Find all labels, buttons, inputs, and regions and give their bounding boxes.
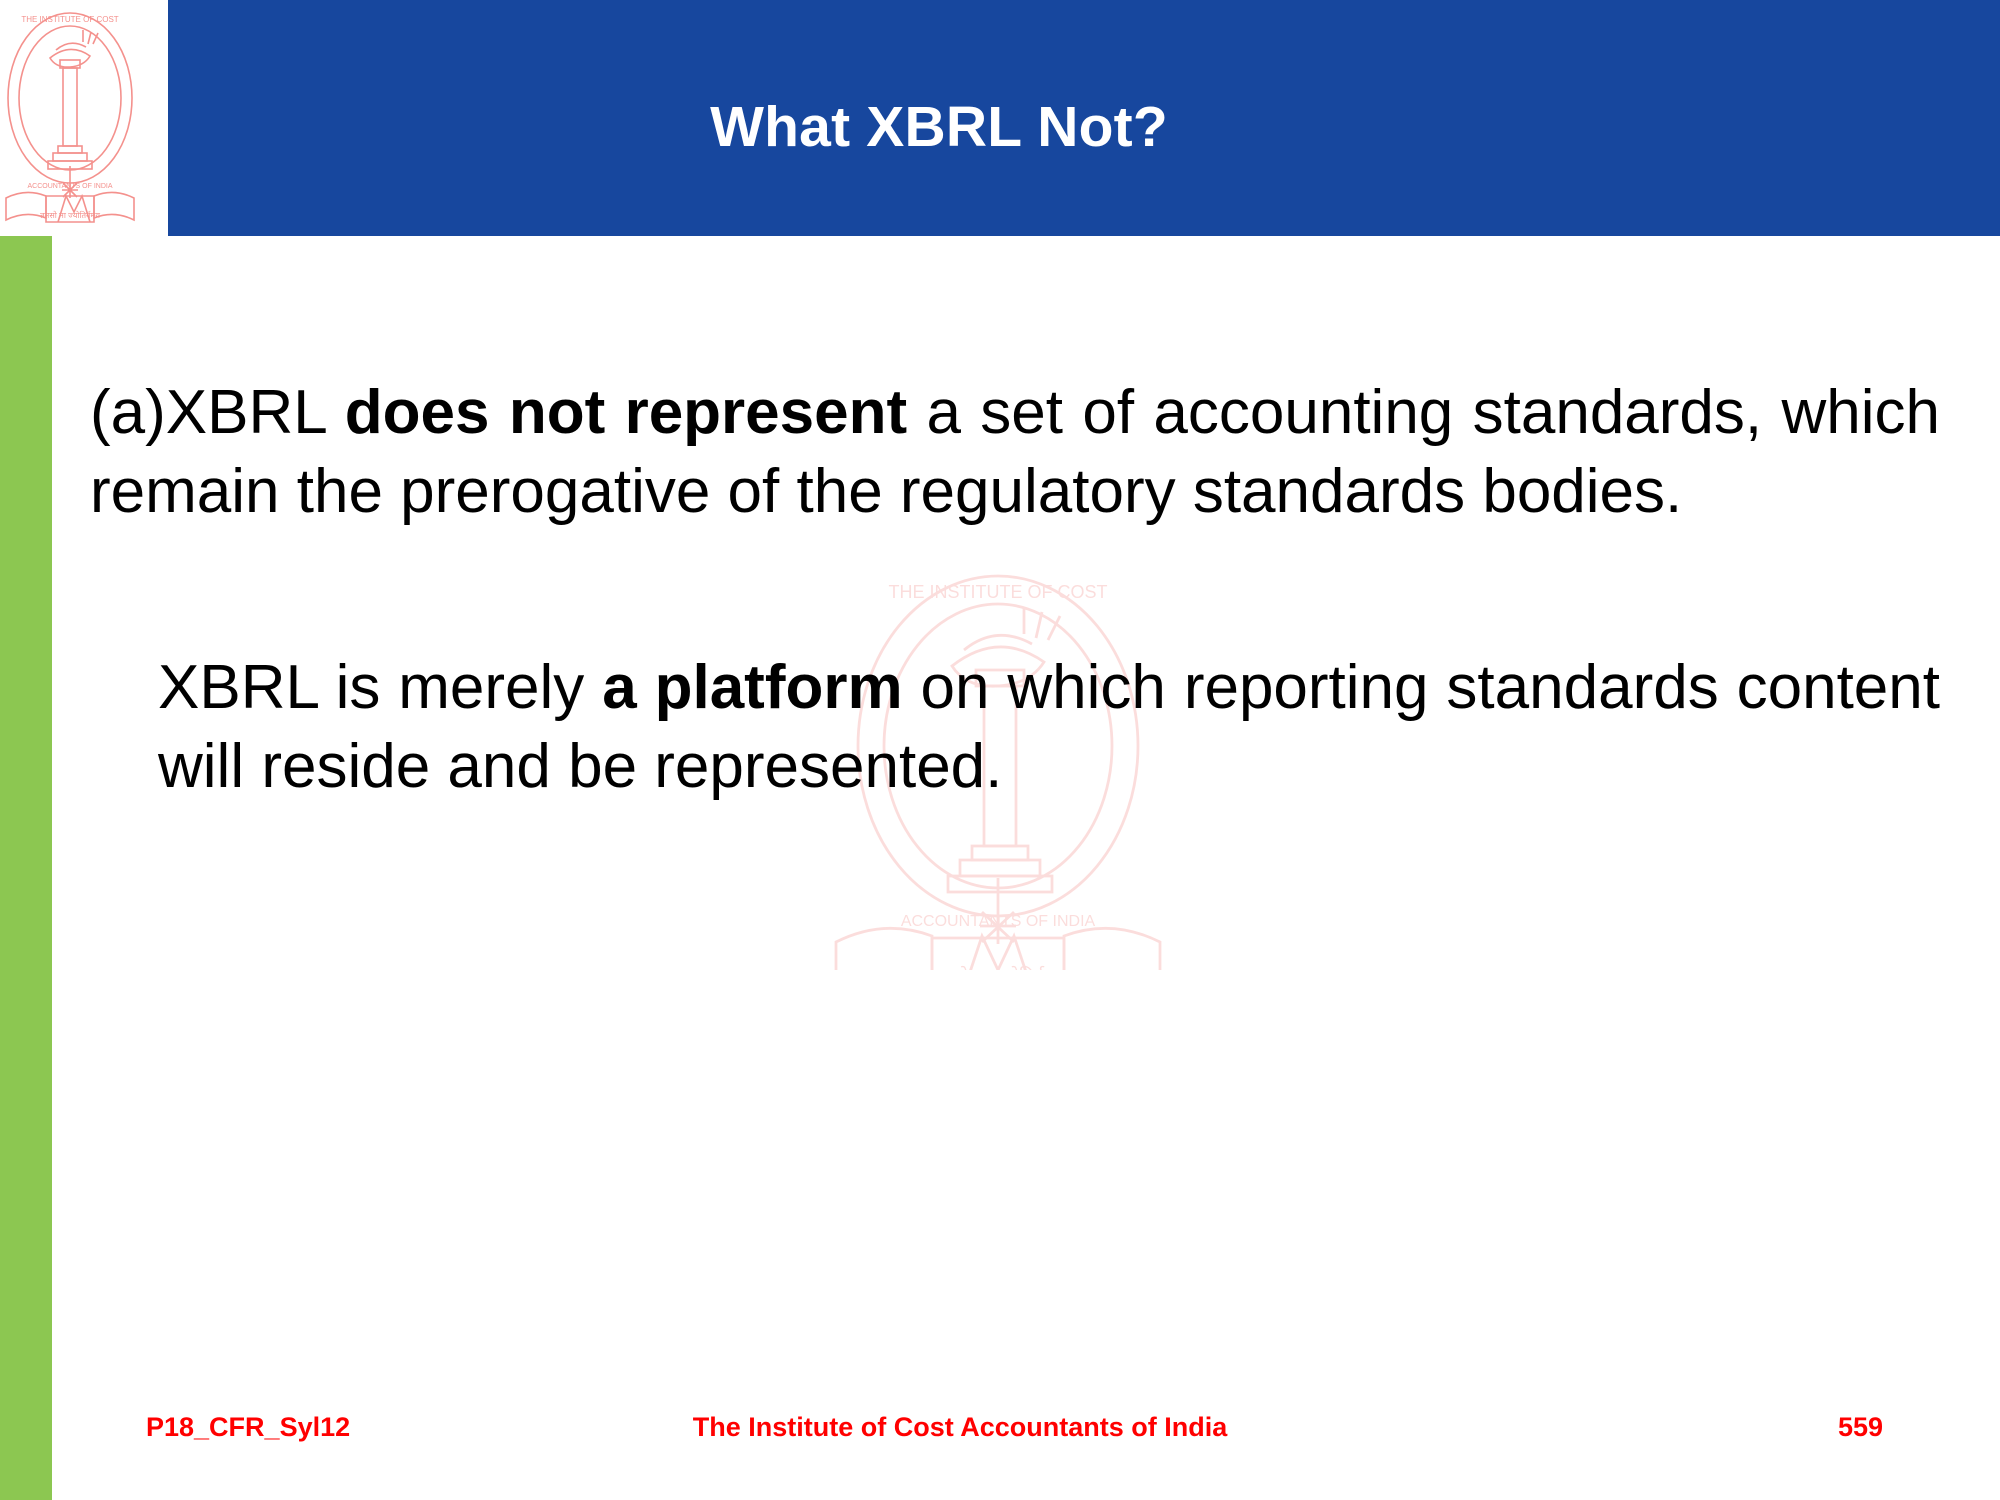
slide-footer: P18_CFR_Syl12 The Institute of Cost Acco… xyxy=(0,1404,2000,1464)
svg-text:तमसो मा ज्योतिर्गमय: तमसो मा ज्योतिर्गमय xyxy=(931,965,1066,970)
left-accent-bar xyxy=(0,236,52,1500)
institute-logo-icon: THE INSTITUTE OF COST ACCOUNTANTS OF IND… xyxy=(0,0,168,236)
slide-body: (a)XBRL does not represent a set of acco… xyxy=(90,312,1940,869)
svg-text:ACCOUNTANTS OF INDIA: ACCOUNTANTS OF INDIA xyxy=(27,183,112,190)
svg-text:तमसो मा ज्योतिर्गमय: तमसो मा ज्योतिर्गमय xyxy=(40,210,100,220)
slide-title-bar: What XBRL Not? xyxy=(168,0,2000,236)
para-a-run-0: (a)XBRL xyxy=(90,378,345,447)
svg-text:ACCOUNTANTS OF INDIA: ACCOUNTANTS OF INDIA xyxy=(901,913,1096,930)
para-a-run-1: does not represent xyxy=(345,378,907,447)
paragraph-a: (a)XBRL does not represent a set of acco… xyxy=(90,374,1940,531)
paragraph-b: XBRL is merely a platform on which repor… xyxy=(90,649,1940,806)
para-b-run-1: a platform xyxy=(602,653,902,722)
page-title: What XBRL Not? xyxy=(710,94,1168,160)
logo-container: THE INSTITUTE OF COST ACCOUNTANTS OF IND… xyxy=(0,0,168,236)
footer-page-number: 559 xyxy=(1838,1412,1883,1443)
footer-institute-name: The Institute of Cost Accountants of Ind… xyxy=(0,1412,2000,1443)
para-b-run-0: XBRL is merely xyxy=(158,653,602,722)
svg-text:THE INSTITUTE OF COST: THE INSTITUTE OF COST xyxy=(21,15,118,24)
